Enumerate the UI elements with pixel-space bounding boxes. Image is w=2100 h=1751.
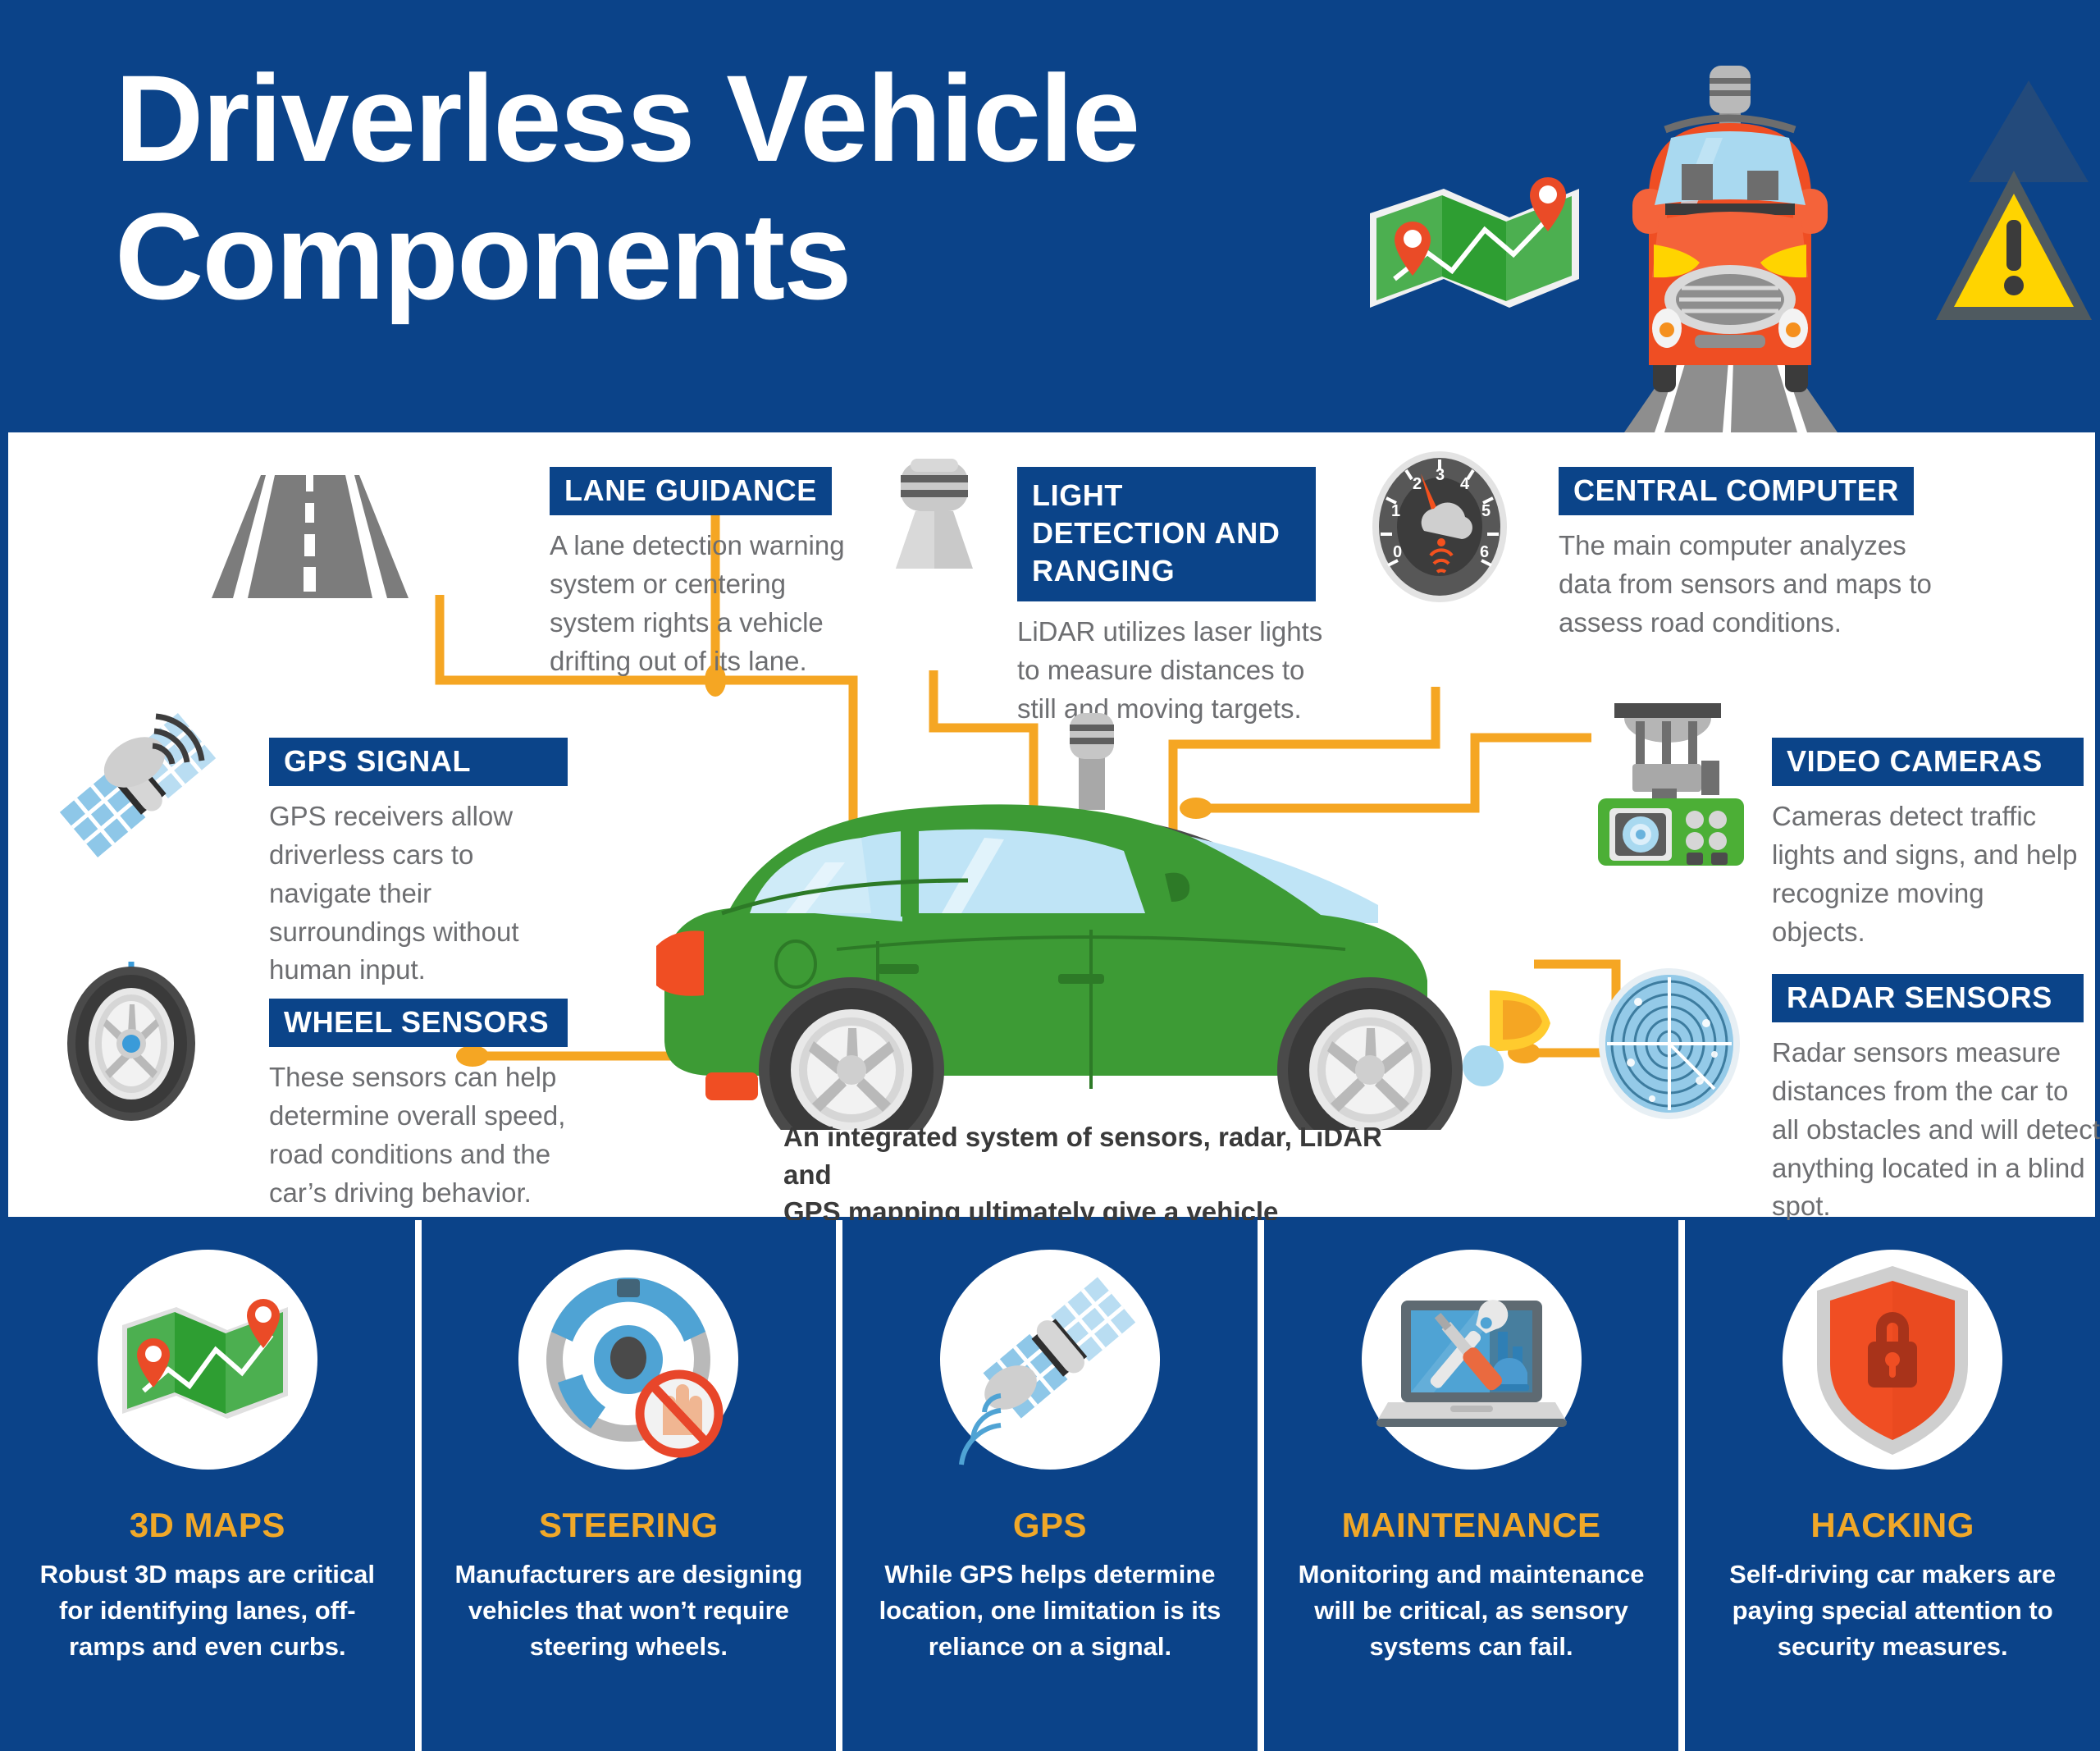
svg-text:0: 0	[1393, 543, 1402, 561]
satellite-icon	[56, 703, 220, 867]
card-maintenance-title: MAINTENANCE	[1342, 1506, 1601, 1545]
gauge-cloud-icon: 0 1 2 3 4 5 6	[1370, 449, 1509, 605]
gps-signal-badge: GPS SIGNAL	[269, 738, 568, 786]
card-hacking-title: HACKING	[1810, 1506, 1974, 1545]
card-hacking[interactable]: HACKING Self-driving car makers are payi…	[1678, 1220, 2100, 1751]
card-gps[interactable]: GPS While GPS helps determine location, …	[836, 1220, 1258, 1751]
svg-text:3: 3	[1436, 466, 1445, 484]
card-hacking-text: Self-driving car makers are paying speci…	[1714, 1557, 2071, 1665]
page-title-line-2: Components	[115, 187, 1395, 325]
card-steering-title: STEERING	[539, 1506, 719, 1545]
card-maintenance[interactable]: MAINTENANCE Monitoring and maintenance w…	[1258, 1220, 1679, 1751]
summary-cards: 3D MAPS Robust 3D maps are critical for …	[0, 1220, 2100, 1751]
video-cameras-description: Cameras detect traffic lights and signs,…	[1772, 798, 2084, 951]
lidar-dome-icon	[883, 459, 986, 572]
central-computer-badge: CENTRAL COMPUTER	[1559, 467, 1914, 515]
green-self-driving-car-side-icon	[632, 703, 1567, 1130]
card-maintenance-text: Monitoring and maintenance will be criti…	[1293, 1557, 1650, 1665]
gps-signal-description: GPS receivers allow driverless cars to n…	[269, 798, 581, 990]
header-banner: Driverless Vehicle Components	[0, 0, 2100, 432]
radar-sensors-badge: RADAR SENSORS	[1772, 974, 2084, 1022]
card-3d-maps-icon-circle	[98, 1250, 317, 1470]
card-steering-text: Manufacturers are designing vehicles tha…	[450, 1557, 807, 1665]
card-gps-icon-circle	[940, 1250, 1160, 1470]
card-gps-title: GPS	[1013, 1506, 1087, 1545]
wheel-sensors-badge: WHEEL SENSORS	[269, 999, 568, 1047]
folded-map-icon	[98, 1250, 317, 1470]
card-3d-maps[interactable]: 3D MAPS Robust 3D maps are critical for …	[0, 1220, 415, 1751]
svg-text:6: 6	[1480, 543, 1489, 561]
warning-triangle-icon	[1936, 80, 2092, 320]
component-gps-signal: GPS SIGNAL GPS receivers allow driverles…	[269, 738, 581, 990]
radar-scope-icon	[1591, 966, 1747, 1122]
lane-guidance-badge: LANE GUIDANCE	[550, 467, 832, 515]
laptop-tools-icon	[1362, 1250, 1582, 1470]
lane-guidance-description: A lane detection warning system or cente…	[550, 527, 878, 680]
tire-wheel-icon	[57, 962, 205, 1126]
central-computer-description: The main computer analyzes data from sen…	[1559, 527, 1952, 642]
radar-sensors-description: Radar sensors measure distances from the…	[1772, 1034, 2100, 1226]
component-lane-guidance: LANE GUIDANCE A lane detection warning s…	[550, 467, 878, 680]
panel-caption-line-1: An integrated system of sensors, radar, …	[783, 1118, 1407, 1193]
card-gps-text: While GPS helps determine location, one …	[872, 1557, 1229, 1665]
header-illustration	[1362, 33, 2100, 432]
steering-wheel-no-hands-icon	[518, 1250, 738, 1470]
card-maintenance-icon-circle	[1362, 1250, 1582, 1470]
svg-text:1: 1	[1391, 502, 1400, 520]
satellite-icon	[940, 1250, 1160, 1470]
card-3d-maps-text: Robust 3D maps are critical for identify…	[29, 1557, 386, 1665]
page-title-line-1: Driverless Vehicle	[115, 49, 1139, 187]
component-radar-sensors: RADAR SENSORS Radar sensors measure dist…	[1772, 974, 2100, 1226]
card-steering[interactable]: STEERING Manufacturers are designing veh…	[415, 1220, 837, 1751]
lidar-badge: LIGHT DETECTION AND RANGING	[1017, 467, 1316, 601]
component-lidar: LIGHT DETECTION AND RANGING LiDAR utiliz…	[1017, 467, 1329, 729]
svg-text:4: 4	[1460, 475, 1470, 493]
shield-lock-icon	[1783, 1250, 2002, 1470]
red-car-front-icon	[1632, 66, 1828, 392]
component-wheel-sensors: WHEEL SENSORS These sensors can help det…	[269, 999, 581, 1212]
page-title: Driverless Vehicle Components	[115, 49, 1395, 325]
component-central-computer: CENTRAL COMPUTER The main computer analy…	[1559, 467, 1952, 642]
road-lane-icon	[212, 475, 409, 598]
wheel-sensors-description: These sensors can help determine overall…	[269, 1058, 581, 1212]
card-steering-icon-circle	[518, 1250, 738, 1470]
components-panel: LANE GUIDANCE A lane detection warning s…	[5, 432, 2095, 1217]
card-3d-maps-title: 3D MAPS	[130, 1506, 285, 1545]
component-video-cameras: VIDEO CAMERAS Cameras detect traffic lig…	[1772, 738, 2084, 951]
video-cameras-badge: VIDEO CAMERAS	[1772, 738, 2084, 786]
folded-map-icon	[1370, 177, 1579, 308]
card-hacking-icon-circle	[1783, 1250, 2002, 1470]
video-camera-icon	[1593, 703, 1749, 867]
svg-text:2: 2	[1413, 475, 1422, 493]
svg-text:5: 5	[1481, 502, 1491, 520]
